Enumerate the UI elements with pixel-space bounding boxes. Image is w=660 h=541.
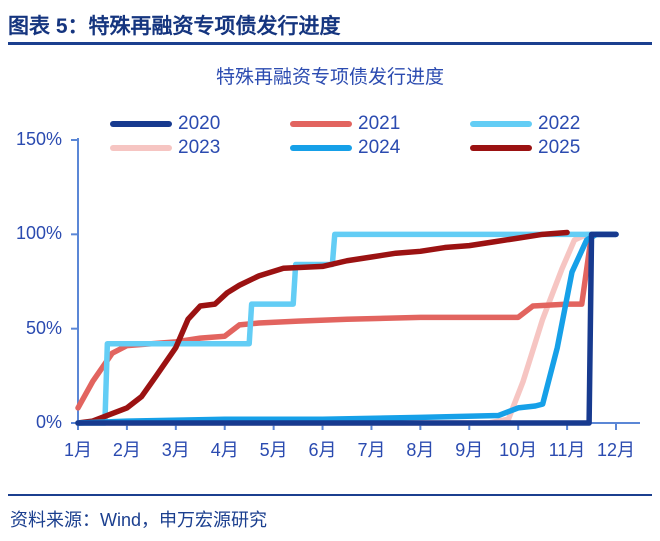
x-tick-label: 12月 xyxy=(591,436,641,462)
chart-canvas xyxy=(0,120,660,480)
x-tick-label: 4月 xyxy=(200,436,250,462)
figure-title: 图表 5：特殊再融资专项债发行进度 xyxy=(8,10,341,40)
y-tick-label: 0% xyxy=(0,412,62,433)
footer-divider xyxy=(8,494,652,496)
chart-title: 特殊再融资专项债发行进度 xyxy=(0,62,660,89)
x-tick-label: 6月 xyxy=(298,436,348,462)
x-tick-label: 9月 xyxy=(444,436,494,462)
figure-header: 图表 5：特殊再融资专项债发行进度 xyxy=(0,6,660,44)
x-tick-label: 3月 xyxy=(151,436,201,462)
x-tick-label: 7月 xyxy=(346,436,396,462)
x-tick-label: 10月 xyxy=(493,436,543,462)
y-tick-label: 50% xyxy=(0,318,62,339)
y-tick-label: 100% xyxy=(0,223,62,244)
y-tick-label: 150% xyxy=(0,129,62,150)
series-line-2025 xyxy=(78,232,567,423)
x-tick-label: 5月 xyxy=(249,436,299,462)
x-tick-label: 11月 xyxy=(542,436,592,462)
x-tick-label: 8月 xyxy=(395,436,445,462)
x-tick-label: 2月 xyxy=(102,436,152,462)
x-tick-label: 1月 xyxy=(53,436,103,462)
chart-plot-area: 0%50%100%150% xyxy=(0,120,660,480)
header-divider xyxy=(8,42,652,45)
source-note: 资料来源：Wind，申万宏源研究 xyxy=(10,506,267,532)
